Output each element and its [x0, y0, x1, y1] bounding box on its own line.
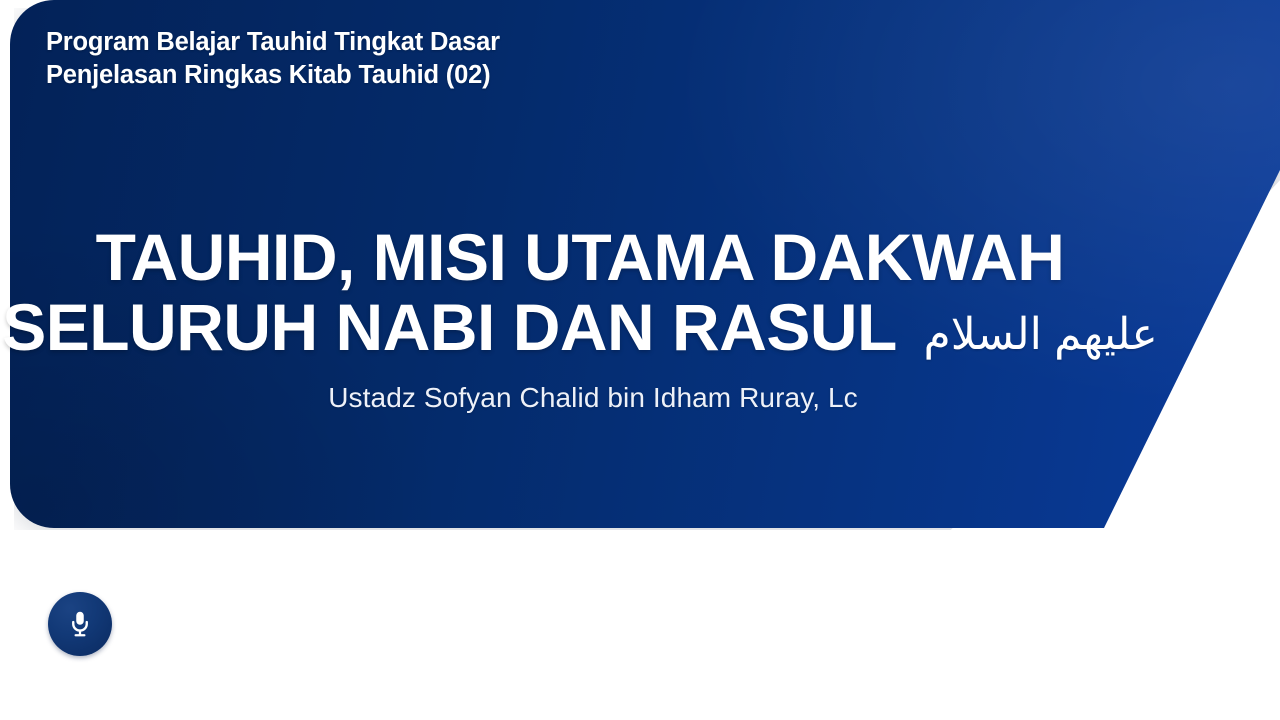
- program-subtitle: Penjelasan Ringkas Kitab Tauhid (02): [46, 59, 500, 92]
- lecture-title-line-2: SELURUH NABI DAN RASUL: [2, 290, 895, 364]
- arabic-honorific-calligraphy: عليهم السلام: [924, 313, 1158, 357]
- program-title: Program Belajar Tauhid Tingkat Dasar: [46, 26, 500, 59]
- audio-indicator-badge[interactable]: [48, 592, 112, 656]
- program-header: Program Belajar Tauhid Tingkat Dasar Pen…: [46, 26, 500, 92]
- lecture-title-block: TAUHID, MISI UTAMA DAKWAH SELURUH NABI D…: [0, 222, 1160, 362]
- microphone-icon: [65, 609, 95, 639]
- speaker-name: Ustadz Sofyan Chalid bin Idham Ruray, Lc: [0, 380, 1186, 416]
- lecture-title-line-1: TAUHID, MISI UTAMA DAKWAH: [0, 222, 1160, 292]
- lecture-title-line-2-row: SELURUH NABI DAN RASUL عليهم السلام: [0, 292, 1160, 362]
- slide-canvas: Program Belajar Tauhid Tingkat Dasar Pen…: [0, 0, 1280, 720]
